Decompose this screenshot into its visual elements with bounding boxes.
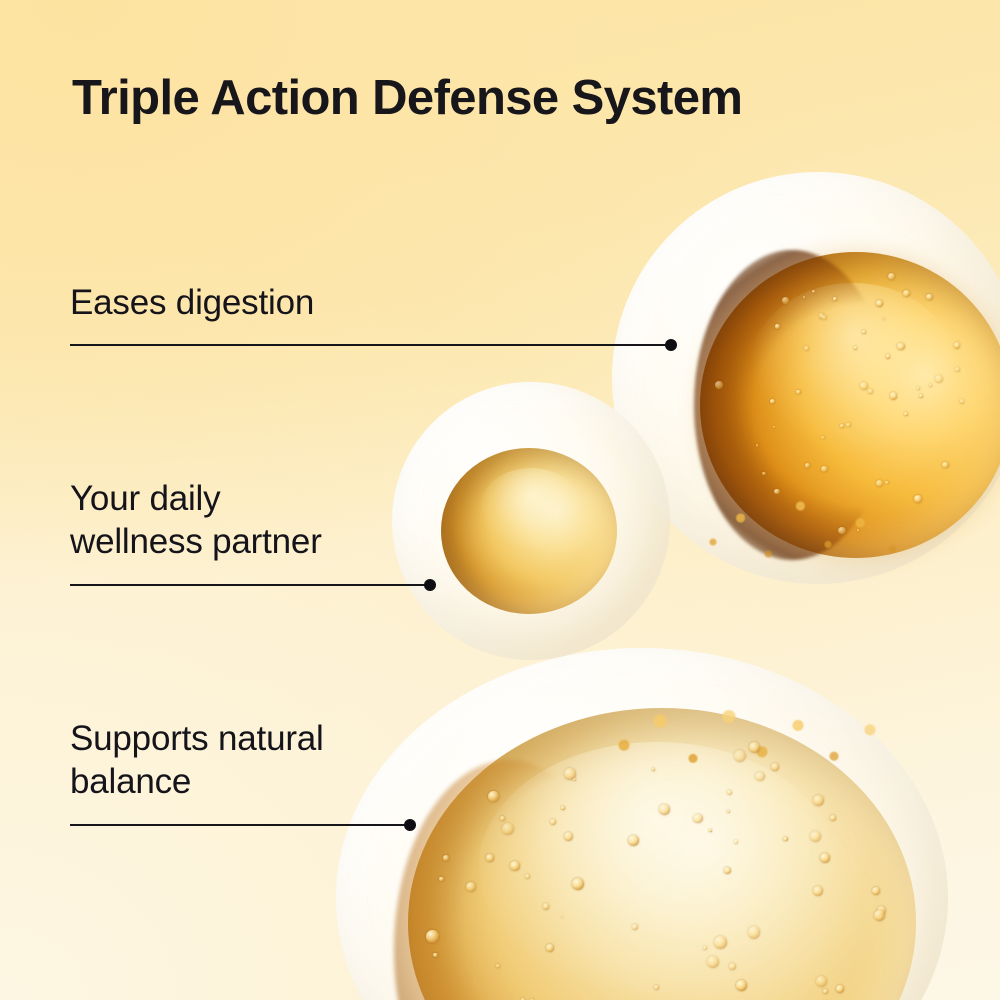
air-bubble — [782, 297, 789, 304]
air-bubble — [804, 346, 809, 351]
connector-rule — [70, 344, 674, 346]
air-bubble — [903, 290, 910, 297]
air-bubble — [919, 394, 924, 399]
air-bubble — [812, 290, 815, 293]
air-bubble — [561, 916, 563, 918]
air-bubble — [709, 829, 712, 832]
connector-dot — [665, 339, 677, 351]
top-droplet-air-bubbles — [700, 252, 1000, 558]
air-bubble — [727, 790, 732, 795]
air-bubble — [888, 273, 895, 280]
air-bubble — [935, 375, 943, 383]
air-bubble — [810, 831, 821, 842]
air-bubble — [734, 750, 746, 762]
air-bubble — [955, 367, 960, 372]
air-bubble — [821, 466, 827, 472]
air-bubble — [886, 354, 891, 359]
air-bubble — [897, 343, 905, 351]
air-bubble — [823, 989, 828, 994]
air-bubble — [942, 462, 949, 469]
air-bubble — [796, 390, 801, 395]
connector-rule — [70, 584, 433, 586]
air-bubble — [486, 854, 494, 862]
air-bubble — [466, 882, 476, 892]
air-bubble — [496, 964, 500, 968]
air-bubble — [874, 910, 885, 921]
air-bubble — [573, 778, 576, 781]
air-bubble — [543, 903, 550, 910]
air-bubble — [500, 816, 505, 821]
product-infographic: Triple Action Defense System Eases diges… — [0, 0, 1000, 1000]
air-bubble — [762, 472, 765, 475]
feature-label: Eases digestion — [70, 282, 314, 325]
air-bubble — [632, 924, 638, 930]
air-bubble — [830, 815, 836, 821]
air-bubble — [805, 463, 810, 468]
air-bubble — [816, 976, 827, 987]
air-bubble — [654, 985, 659, 990]
air-bubble — [748, 926, 761, 939]
air-bubble — [734, 840, 737, 843]
air-bubble — [836, 985, 844, 993]
air-bubble — [439, 877, 443, 881]
air-bubble — [872, 887, 880, 895]
air-bubble — [833, 297, 837, 301]
air-bubble — [749, 742, 760, 753]
air-bubble — [813, 795, 824, 806]
air-bubble — [803, 296, 806, 299]
air-bubble — [854, 346, 857, 349]
feature-connector-line — [70, 338, 674, 352]
air-bubble — [771, 763, 780, 772]
air-bubble — [628, 835, 639, 846]
air-bubble — [890, 392, 898, 400]
connector-dot — [424, 579, 436, 591]
air-bubble — [770, 399, 775, 404]
air-bubble — [868, 389, 872, 393]
air-bubble — [714, 936, 727, 949]
air-bubble — [883, 318, 885, 320]
air-bubble — [561, 806, 565, 810]
air-bubble — [813, 886, 823, 896]
air-bubble — [821, 315, 827, 321]
air-bubble — [914, 495, 922, 503]
air-bubble — [703, 946, 707, 950]
air-bubble — [433, 953, 437, 957]
air-bubble — [729, 963, 736, 970]
air-bubble — [860, 382, 868, 390]
air-bubble — [488, 791, 499, 802]
air-bubble — [773, 426, 775, 428]
air-bubble — [724, 867, 731, 874]
air-bubble — [727, 810, 730, 813]
air-bubble — [862, 330, 865, 333]
air-bubble — [821, 436, 825, 440]
air-bubble — [857, 529, 860, 532]
air-bubble — [652, 768, 655, 771]
feature-connector-line — [70, 578, 433, 592]
feature-label: Your daily wellness partner — [70, 478, 322, 563]
air-bubble — [502, 823, 514, 835]
air-bubble — [572, 878, 584, 890]
air-bubble — [715, 381, 723, 389]
feature-callout-daily-wellness-partner: Your daily wellness partner — [70, 478, 322, 563]
air-bubble — [564, 832, 573, 841]
air-bubble — [926, 294, 932, 300]
air-bubble — [820, 853, 830, 863]
page-title: Triple Action Defense System — [72, 72, 742, 125]
connector-dot — [404, 819, 416, 831]
air-bubble — [929, 384, 932, 387]
feature-label: Supports natural balance — [70, 718, 324, 803]
air-bubble — [775, 324, 780, 329]
air-bubble — [659, 804, 670, 815]
air-bubble — [774, 489, 780, 495]
air-bubble — [510, 861, 520, 871]
air-bubble — [876, 300, 883, 307]
air-bubble — [876, 480, 883, 487]
air-bubble — [838, 527, 845, 534]
feature-callout-supports-natural-balance: Supports natural balance — [70, 718, 324, 803]
air-bubble — [525, 874, 531, 880]
air-bubble — [443, 855, 449, 861]
air-bubble — [707, 956, 719, 968]
air-bubble — [846, 423, 850, 427]
air-bubble — [426, 930, 439, 943]
air-bubble — [550, 819, 556, 825]
air-bubble — [917, 387, 920, 390]
air-bubble — [960, 399, 965, 404]
air-bubble — [736, 980, 747, 991]
air-bubble — [840, 424, 844, 428]
connector-rule — [70, 824, 413, 826]
feature-callout-eases-digestion: Eases digestion — [70, 282, 314, 325]
air-bubble — [755, 772, 765, 782]
air-bubble — [885, 481, 889, 485]
middle-droplet-core — [441, 448, 617, 614]
feature-connector-line — [70, 818, 413, 832]
air-bubble — [783, 837, 788, 842]
air-bubble — [756, 444, 758, 446]
air-bubble — [546, 944, 554, 952]
air-bubble — [954, 342, 960, 348]
air-bubble — [904, 412, 908, 416]
air-bubble — [693, 814, 702, 823]
